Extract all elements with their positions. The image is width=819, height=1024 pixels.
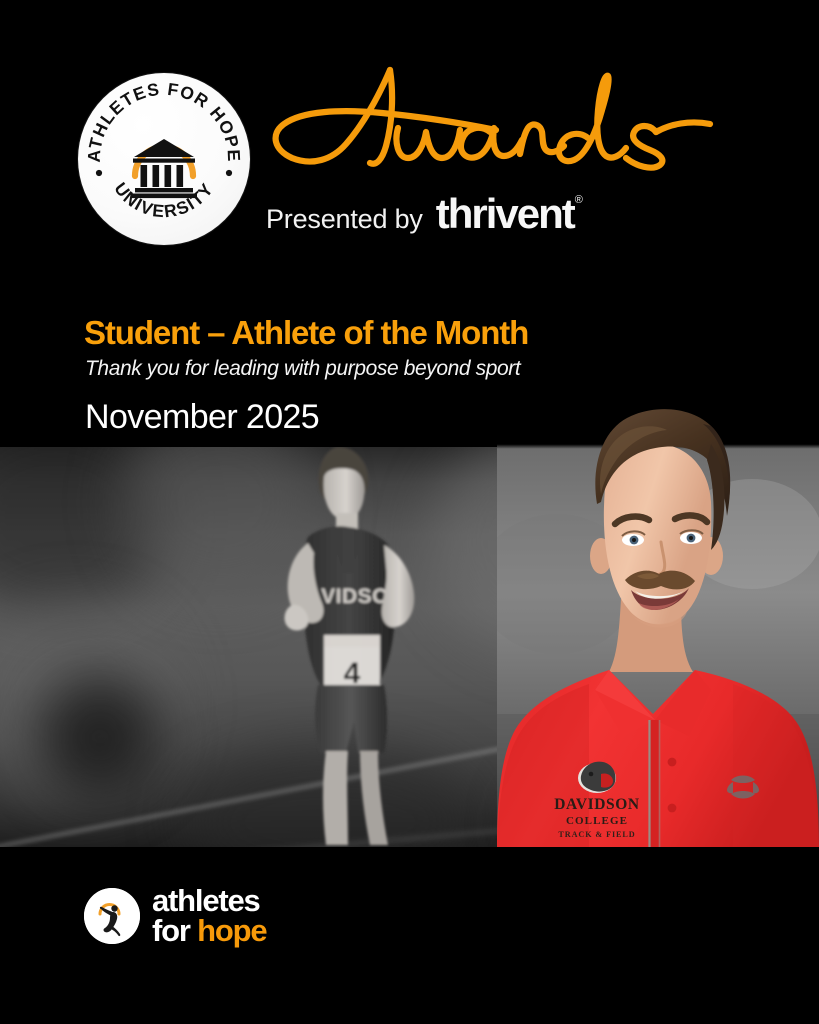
polo-logo-line3: TRACK & FIELD — [558, 830, 635, 839]
presented-by-label: Presented by — [266, 206, 423, 233]
award-tagline: Thank you for leading with purpose beyon… — [85, 357, 520, 381]
athlete-headshot: DAVIDSON COLLEGE TRACK & FIELD — [497, 384, 819, 847]
award-month: November 2025 — [85, 398, 319, 437]
athletes-for-hope-wordmark: athletes for hope — [152, 886, 266, 946]
award-poster: ATHLETES FOR HOPE UNIVERSITY — [0, 0, 819, 1024]
polo-logo-line1: DAVIDSON — [554, 796, 639, 813]
wordmark-athletes: athletes — [152, 886, 266, 916]
thrivent-logo: thrivent ® — [436, 193, 582, 235]
athletes-for-hope-footer-logo: athletes for hope — [84, 886, 266, 946]
athletes-for-hope-university-seal: ATHLETES FOR HOPE UNIVERSITY — [78, 73, 250, 245]
classical-building-icon — [131, 139, 197, 198]
seal-bottom-text: UNIVERSITY — [110, 179, 217, 222]
award-title: Student – Athlete of the Month — [84, 314, 528, 352]
presented-by-row: Presented by thrivent ® — [266, 193, 582, 235]
athlete-reaching-sun-icon — [84, 888, 140, 944]
polo-logo-line2: COLLEGE — [566, 815, 628, 827]
thrivent-wordmark: thrivent — [436, 193, 574, 235]
awards-script-wordmark — [258, 62, 728, 177]
background-runner-figure: DAVIDSON 4 — [236, 447, 476, 847]
poster-header: ATHLETES FOR HOPE UNIVERSITY — [0, 0, 819, 300]
registered-trademark-icon: ® — [575, 195, 583, 206]
svg-text:UNIVERSITY: UNIVERSITY — [110, 179, 217, 222]
wordmark-for: for — [152, 913, 197, 948]
wordmark-for-hope: for hope — [152, 916, 266, 946]
wordmark-hope: hope — [197, 913, 266, 948]
